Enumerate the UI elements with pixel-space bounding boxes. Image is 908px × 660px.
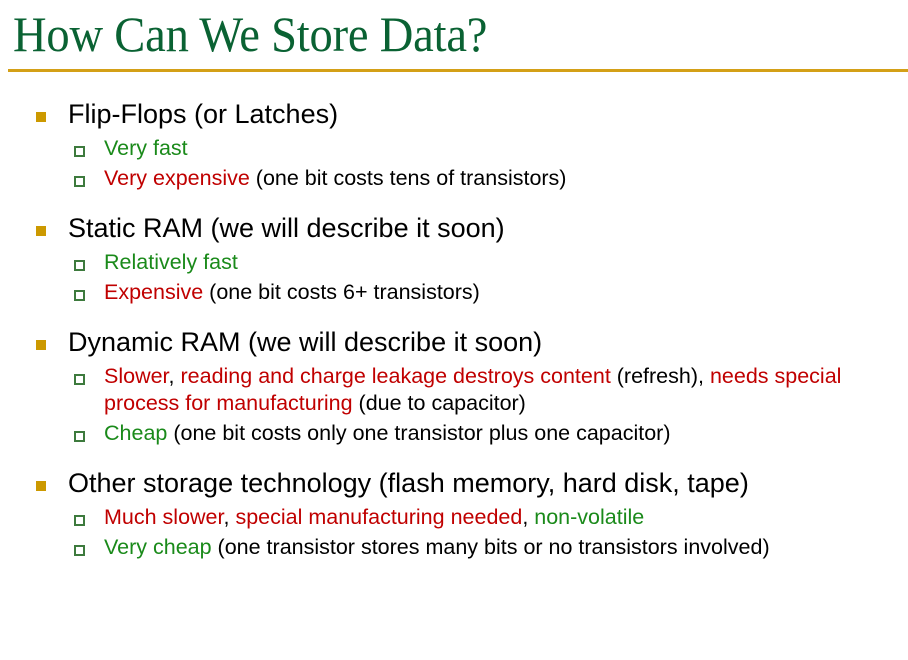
bullet-level1-label: Dynamic RAM (we will describe it soon) xyxy=(68,324,908,360)
square-bullet-icon xyxy=(36,112,46,122)
square-bullet-icon xyxy=(36,226,46,236)
bullet-level2-label: Very expensive (one bit costs tens of tr… xyxy=(104,165,900,192)
bullet-level2-label: Slower, reading and charge leakage destr… xyxy=(104,363,900,417)
text-run-black: , xyxy=(224,505,236,529)
bullet-level1: Other storage technology (flash memory, … xyxy=(0,465,908,501)
bullet-level2-label: Much slower, special manufacturing neede… xyxy=(104,504,900,531)
bullet-level2: Expensive (one bit costs 6+ transistors) xyxy=(0,279,908,306)
bullet-level2-label: Cheap (one bit costs only one transistor… xyxy=(104,420,900,447)
bullet-level2: Slower, reading and charge leakage destr… xyxy=(0,363,908,417)
bullet-level2-label: Expensive (one bit costs 6+ transistors) xyxy=(104,279,900,306)
hollow-square-bullet-icon xyxy=(74,374,85,385)
text-run-black: , xyxy=(169,364,181,388)
bullet-group: Dynamic RAM (we will describe it soon)Sl… xyxy=(0,324,908,447)
bullet-group: Other storage technology (flash memory, … xyxy=(0,465,908,561)
text-run-black: (one bit costs only one transistor plus … xyxy=(167,421,670,445)
bullet-level2: Very cheap (one transistor stores many b… xyxy=(0,534,908,561)
bullet-level1-label: Flip-Flops (or Latches) xyxy=(68,96,908,132)
text-run-red: reading and charge leakage destroys cont… xyxy=(181,364,611,388)
bullet-level2: Much slower, special manufacturing neede… xyxy=(0,504,908,531)
bullet-level1-label: Other storage technology (flash memory, … xyxy=(68,465,908,501)
text-run-red: Slower xyxy=(104,364,169,388)
text-run-black: , xyxy=(522,505,534,529)
text-run-green: Relatively fast xyxy=(104,250,238,274)
text-run-green: Cheap xyxy=(104,421,167,445)
bullet-level1: Dynamic RAM (we will describe it soon) xyxy=(0,324,908,360)
hollow-square-bullet-icon xyxy=(74,260,85,271)
bullet-level2-label: Very cheap (one transistor stores many b… xyxy=(104,534,900,561)
text-run-red: Very expensive xyxy=(104,166,250,190)
text-run-red: Expensive xyxy=(104,280,203,304)
bullet-level2-label: Very fast xyxy=(104,135,900,162)
bullet-level2: Very expensive (one bit costs tens of tr… xyxy=(0,165,908,192)
text-run-black: (one bit costs tens of transistors) xyxy=(250,166,567,190)
title-divider-rule xyxy=(8,69,908,72)
bullet-level1: Static RAM (we will describe it soon) xyxy=(0,210,908,246)
text-run-black: (due to capacitor) xyxy=(353,391,526,415)
bullet-level1-label: Static RAM (we will describe it soon) xyxy=(68,210,908,246)
page-title: How Can We Store Data? xyxy=(13,5,487,63)
text-run-black: (refresh), xyxy=(611,364,710,388)
hollow-square-bullet-icon xyxy=(74,290,85,301)
slide: How Can We Store Data? Flip-Flops (or La… xyxy=(0,0,908,660)
bullet-group: Static RAM (we will describe it soon)Rel… xyxy=(0,210,908,306)
square-bullet-icon xyxy=(36,481,46,491)
text-run-red: Much slower xyxy=(104,505,224,529)
text-run-green: Very fast xyxy=(104,136,188,160)
text-run-green: Very cheap xyxy=(104,535,212,559)
text-run-green: non-volatile xyxy=(534,505,644,529)
hollow-square-bullet-icon xyxy=(74,515,85,526)
bullet-group: Flip-Flops (or Latches)Very fastVery exp… xyxy=(0,96,908,192)
bullet-level2-label: Relatively fast xyxy=(104,249,900,276)
text-run-black: (one transistor stores many bits or no t… xyxy=(212,535,770,559)
text-run-red: special manufacturing needed xyxy=(235,505,522,529)
hollow-square-bullet-icon xyxy=(74,176,85,187)
square-bullet-icon xyxy=(36,340,46,350)
bullet-level2: Relatively fast xyxy=(0,249,908,276)
bullet-level2: Very fast xyxy=(0,135,908,162)
slide-title-area: How Can We Store Data? xyxy=(0,0,908,72)
slide-body: Flip-Flops (or Latches)Very fastVery exp… xyxy=(0,96,908,561)
hollow-square-bullet-icon xyxy=(74,545,85,556)
bullet-level1: Flip-Flops (or Latches) xyxy=(0,96,908,132)
text-run-black: (one bit costs 6+ transistors) xyxy=(203,280,480,304)
bullet-level2: Cheap (one bit costs only one transistor… xyxy=(0,420,908,447)
hollow-square-bullet-icon xyxy=(74,431,85,442)
hollow-square-bullet-icon xyxy=(74,146,85,157)
